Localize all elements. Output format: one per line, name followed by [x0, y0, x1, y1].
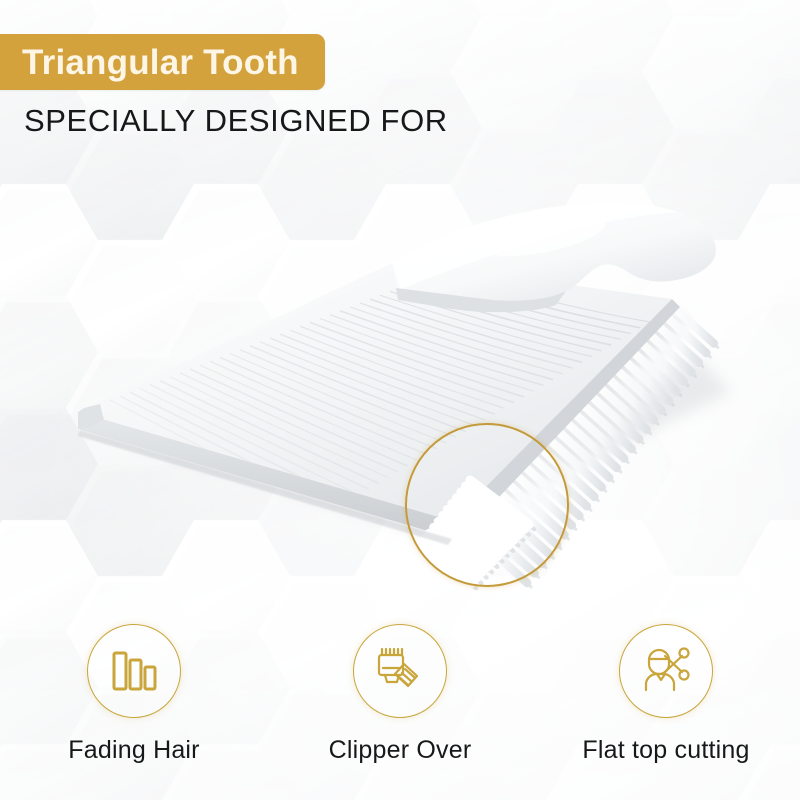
zoom-highlight-circle: [405, 423, 569, 587]
feature-item-clipper-over: Clipper Over: [300, 624, 500, 765]
clipper-over-comb-icon: [371, 642, 429, 700]
headline-badge: Triangular Tooth: [0, 34, 325, 90]
feature-icon-circle: [87, 624, 181, 718]
feature-item-fading-hair: Fading Hair: [34, 624, 234, 765]
feature-item-flat-top-cutting: Flat top cutting: [566, 624, 766, 765]
feature-icon-circle: [353, 624, 447, 718]
feature-label: Flat top cutting: [582, 736, 749, 765]
feature-icon-circle: [619, 624, 713, 718]
subheadline-text: SPECIALLY DESIGNED FOR: [24, 103, 448, 139]
product-infographic: Triangular Tooth SPECIALLY DESIGNED FOR …: [0, 0, 800, 800]
barber-scissors-person-icon: [637, 642, 695, 700]
feature-label: Fading Hair: [68, 736, 199, 765]
headline-badge-text: Triangular Tooth: [22, 45, 299, 80]
fading-bars-icon: [105, 642, 163, 700]
feature-label: Clipper Over: [329, 736, 472, 765]
feature-list: Fading Hair Clipper Over: [0, 624, 800, 765]
